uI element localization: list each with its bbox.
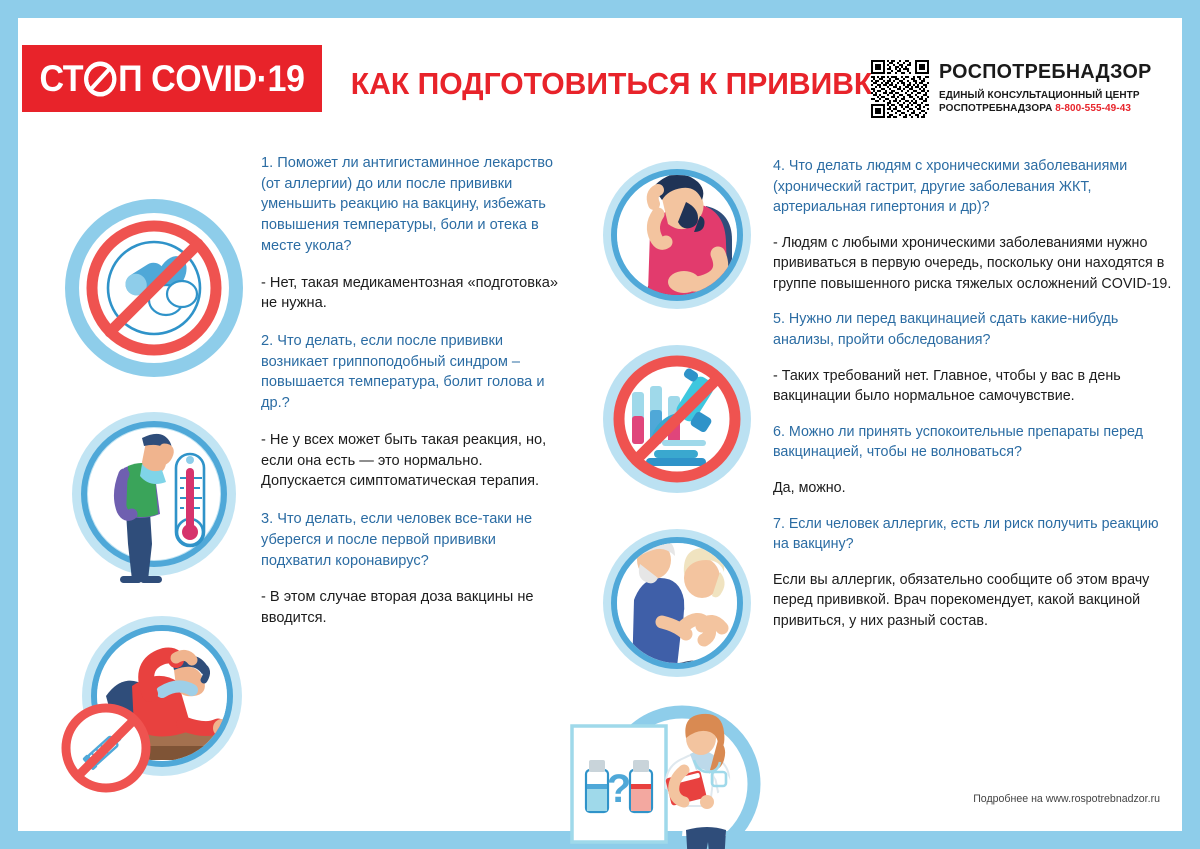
poster-sheet: СТ bbox=[18, 18, 1182, 831]
org-name: РОСПОТРЕБНАДЗОР bbox=[939, 61, 1152, 83]
answer-6: Да, можно. bbox=[773, 478, 1173, 499]
question-1: 1. Поможет ли антигистаминное лекарство … bbox=[261, 153, 561, 257]
right-text-column: 4. Что делать людям с хроническими забол… bbox=[773, 156, 1173, 646]
left-text-column: 1. Поможет ли антигистаминное лекарство … bbox=[261, 153, 561, 646]
question-2: 2. Что делать, если после прививки возни… bbox=[261, 331, 561, 414]
answer-7: Если вы аллергик, обязательно сообщите о… bbox=[773, 570, 1173, 632]
elderly-couple-illustration bbox=[588, 514, 788, 692]
poster-header: СТ bbox=[18, 18, 1182, 130]
poster-root: СТ bbox=[0, 0, 1200, 849]
left-illustration-column bbox=[54, 188, 254, 806]
middle-illustration-column: ? bbox=[588, 146, 788, 849]
badge-suffix-text: П COVID·19 bbox=[118, 60, 304, 97]
answer-5: - Таких требований нет. Главное, чтобы у… bbox=[773, 366, 1173, 407]
answer-2: - Не у всех может быть такая реакция, но… bbox=[261, 430, 561, 492]
page-title: КАК ПОДГОТОВИТЬСЯ К ПРИВИВКЕ bbox=[351, 66, 855, 102]
question-4: 4. Что делать людям с хроническими забол… bbox=[773, 156, 1173, 218]
badge-prefix-text: СТ bbox=[40, 60, 84, 97]
answer-4: - Людям с любыми хроническими заболевани… bbox=[773, 233, 1173, 295]
rospotrebnadzor-block: РОСПОТРЕБНАДЗОР ЕДИНЫЙ КОНСУЛЬТАЦИОННЫЙ … bbox=[871, 60, 1160, 118]
man-with-thermometer-illustration bbox=[54, 394, 254, 594]
svg-text:?: ? bbox=[607, 767, 631, 811]
stop-covid-badge: СТ bbox=[22, 45, 322, 112]
doctor-with-vaccine-vials-illustration: ? bbox=[560, 698, 788, 849]
sick-man-in-bed-no-syringe-illustration bbox=[54, 600, 254, 800]
org-subtitle-line1: ЕДИНЫЙ КОНСУЛЬТАЦИОННЫЙ ЦЕНТР bbox=[939, 89, 1152, 103]
stop-covid-badge-text: СТ bbox=[40, 60, 305, 97]
org-subtitle-line2: РОСПОТРЕБНАДЗОРА 8-800-555-49-43 bbox=[939, 102, 1152, 116]
hotline-phone[interactable]: 8-800-555-49-43 bbox=[1055, 103, 1131, 114]
no-lab-tests-illustration bbox=[588, 330, 788, 508]
question-6: 6. Можно ли принять успокоительные препа… bbox=[773, 422, 1173, 463]
man-with-stomach-ache-illustration bbox=[588, 146, 788, 324]
answer-1: - Нет, такая медикаментозная «подготовка… bbox=[261, 273, 561, 314]
answer-3: - В этом случае вторая доза вакцины не в… bbox=[261, 587, 561, 628]
rospotrebnadzor-texts: РОСПОТРЕБНАДЗОР ЕДИНЫЙ КОНСУЛЬТАЦИОННЫЙ … bbox=[939, 60, 1160, 116]
question-3: 3. Что делать, если человек все-таки не … bbox=[261, 509, 561, 571]
question-7: 7. Если человек аллергик, есть ли риск п… bbox=[773, 514, 1173, 555]
footer-website-note[interactable]: Подробнее на www.rospotrebnadzor.ru bbox=[973, 793, 1160, 805]
org-subtitle: ЕДИНЫЙ КОНСУЛЬТАЦИОННЫЙ ЦЕНТР РОСПОТРЕБН… bbox=[939, 89, 1152, 116]
qr-code-icon bbox=[871, 60, 929, 118]
org-subtitle-line2-text: РОСПОТРЕБНАДЗОРА bbox=[939, 103, 1052, 114]
question-5: 5. Нужно ли перед вакцинацией сдать каки… bbox=[773, 309, 1173, 350]
no-pills-illustration bbox=[54, 188, 254, 388]
virus-icon bbox=[84, 61, 117, 97]
